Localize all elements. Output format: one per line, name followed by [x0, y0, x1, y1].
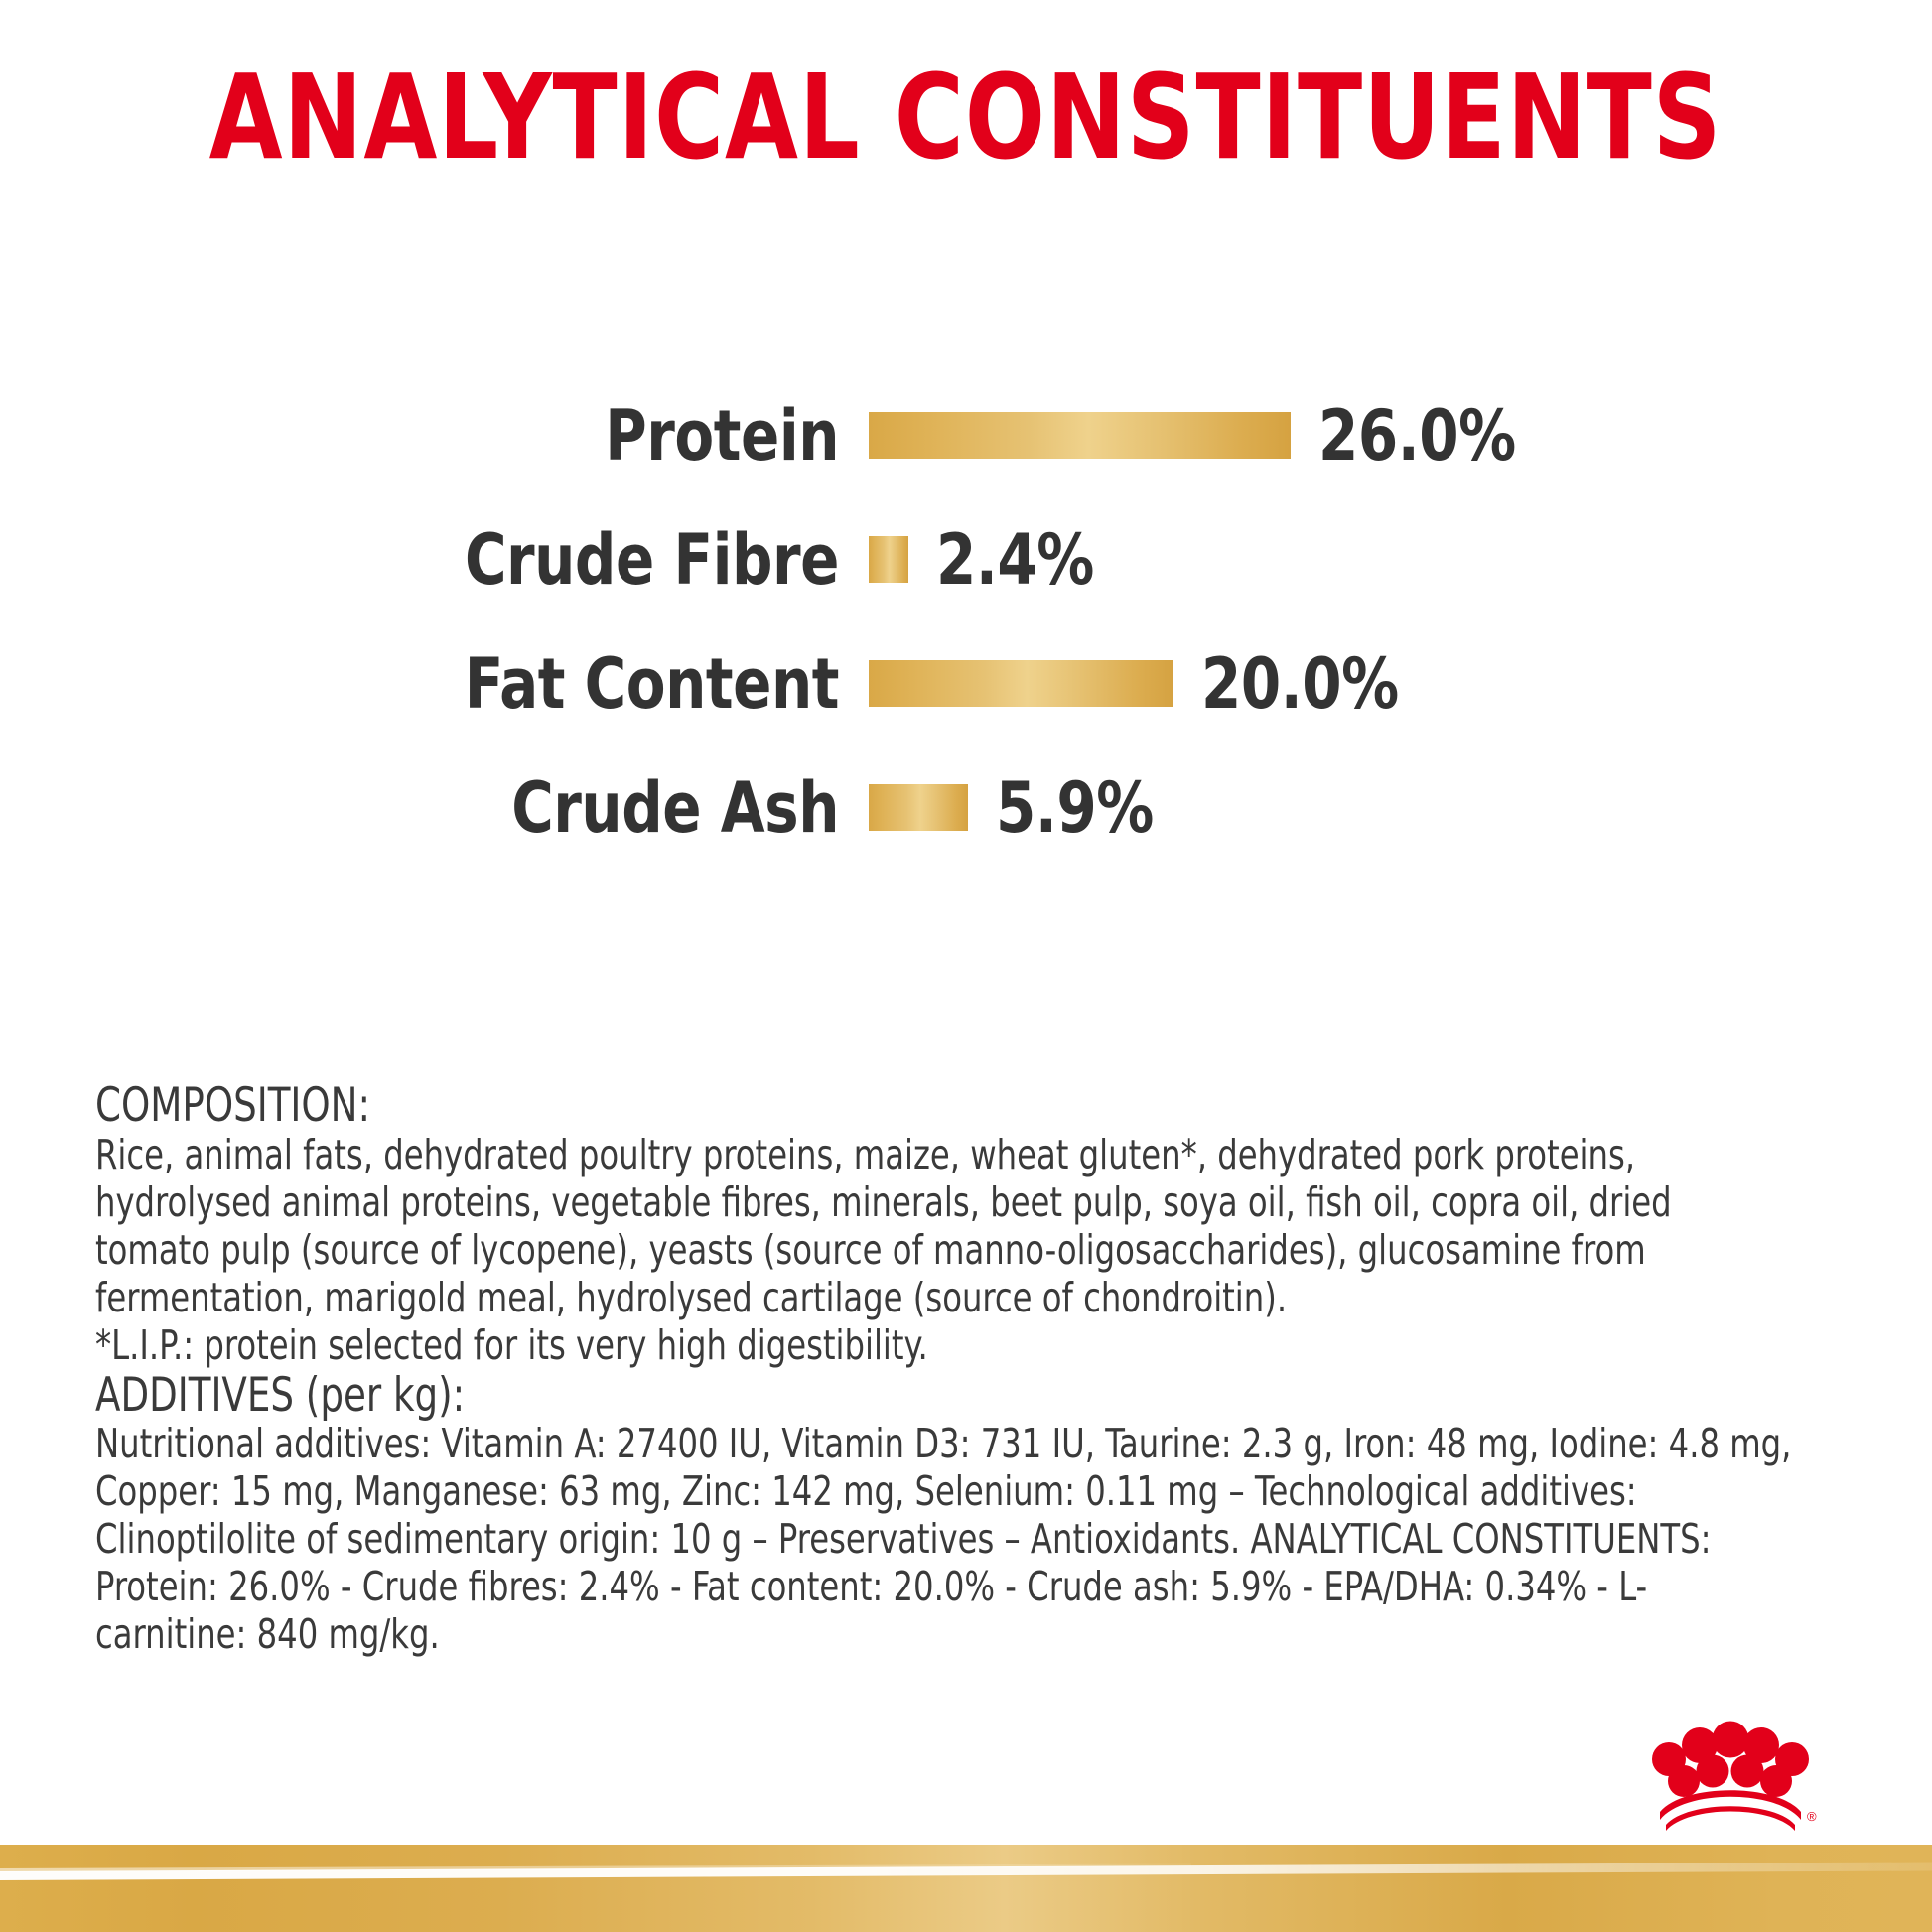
bar-track-fat-content	[869, 660, 1173, 707]
bar-label-crude-ash: Crude Ash	[68, 773, 839, 843]
registered-mark: ®	[1807, 1809, 1817, 1824]
bar-track-crude-fibre	[869, 536, 908, 583]
bar-label-fat-content: Fat Content	[68, 649, 839, 719]
page-header: ANALYTICAL CONSTITUENTS	[0, 58, 1932, 177]
additives-line-3: Clinoptilolite of sedimentary origin: 10…	[95, 1516, 1824, 1564]
bar-track-protein	[869, 412, 1291, 459]
footer-gold-stripe	[0, 1845, 1932, 1932]
composition-line-2: hydrolysed animal proteins, vegetable fi…	[95, 1179, 1824, 1227]
lip-footnote: *L.I.P.: protein selected for its very h…	[95, 1322, 1824, 1370]
bar-fill-fat-content	[869, 660, 1173, 707]
composition-line-1: Rice, animal fats, dehydrated poultry pr…	[95, 1132, 1824, 1179]
bar-row-fat-content: Fat Content 20.0%	[0, 621, 1932, 746]
bar-row-crude-ash: Crude Ash 5.9%	[0, 746, 1932, 870]
composition-line-4: fermentation, marigold meal, hydrolysed …	[95, 1275, 1824, 1322]
analytical-constituents-chart: Protein 26.0% Crude Fibre 2.4% Fat Conte…	[0, 373, 1932, 870]
bar-value-fat-content: 20.0%	[1201, 649, 1399, 719]
composition-heading: COMPOSITION:	[95, 1080, 1615, 1132]
bar-value-protein: 26.0%	[1318, 401, 1516, 471]
bar-label-protein: Protein	[68, 401, 839, 471]
bar-fill-crude-fibre	[869, 536, 908, 583]
additives-line-4: Protein: 26.0% - Crude fibres: 2.4% - Fa…	[95, 1564, 1824, 1611]
bar-label-crude-fibre: Crude Fibre	[68, 525, 839, 595]
page-title: ANALYTICAL CONSTITUENTS	[209, 58, 1723, 177]
bar-row-protein: Protein 26.0%	[0, 373, 1932, 497]
bar-row-crude-fibre: Crude Fibre 2.4%	[0, 497, 1932, 621]
composition-line-3: tomato pulp (source of lycopene), yeasts…	[95, 1227, 1824, 1275]
bar-value-crude-fibre: 2.4%	[936, 525, 1094, 595]
additives-line-5: carnitine: 840 mg/kg.	[95, 1611, 1824, 1659]
bar-track-crude-ash	[869, 784, 968, 831]
royal-canin-crown-icon: ®	[1642, 1714, 1819, 1833]
additives-line-2: Copper: 15 mg, Manganese: 63 mg, Zinc: 1…	[95, 1468, 1824, 1516]
additives-line-1: Nutritional additives: Vitamin A: 27400 …	[95, 1421, 1824, 1468]
bar-fill-crude-ash	[869, 784, 968, 831]
composition-body: Rice, animal fats, dehydrated poultry pr…	[95, 1132, 1824, 1370]
bar-fill-protein	[869, 412, 1291, 459]
ingredients-text-block: COMPOSITION: Rice, animal fats, dehydrat…	[95, 1080, 1823, 1659]
additives-body: Nutritional additives: Vitamin A: 27400 …	[95, 1421, 1824, 1659]
bar-value-crude-ash: 5.9%	[996, 773, 1154, 843]
additives-heading: ADDITIVES (per kg):	[95, 1370, 1615, 1422]
